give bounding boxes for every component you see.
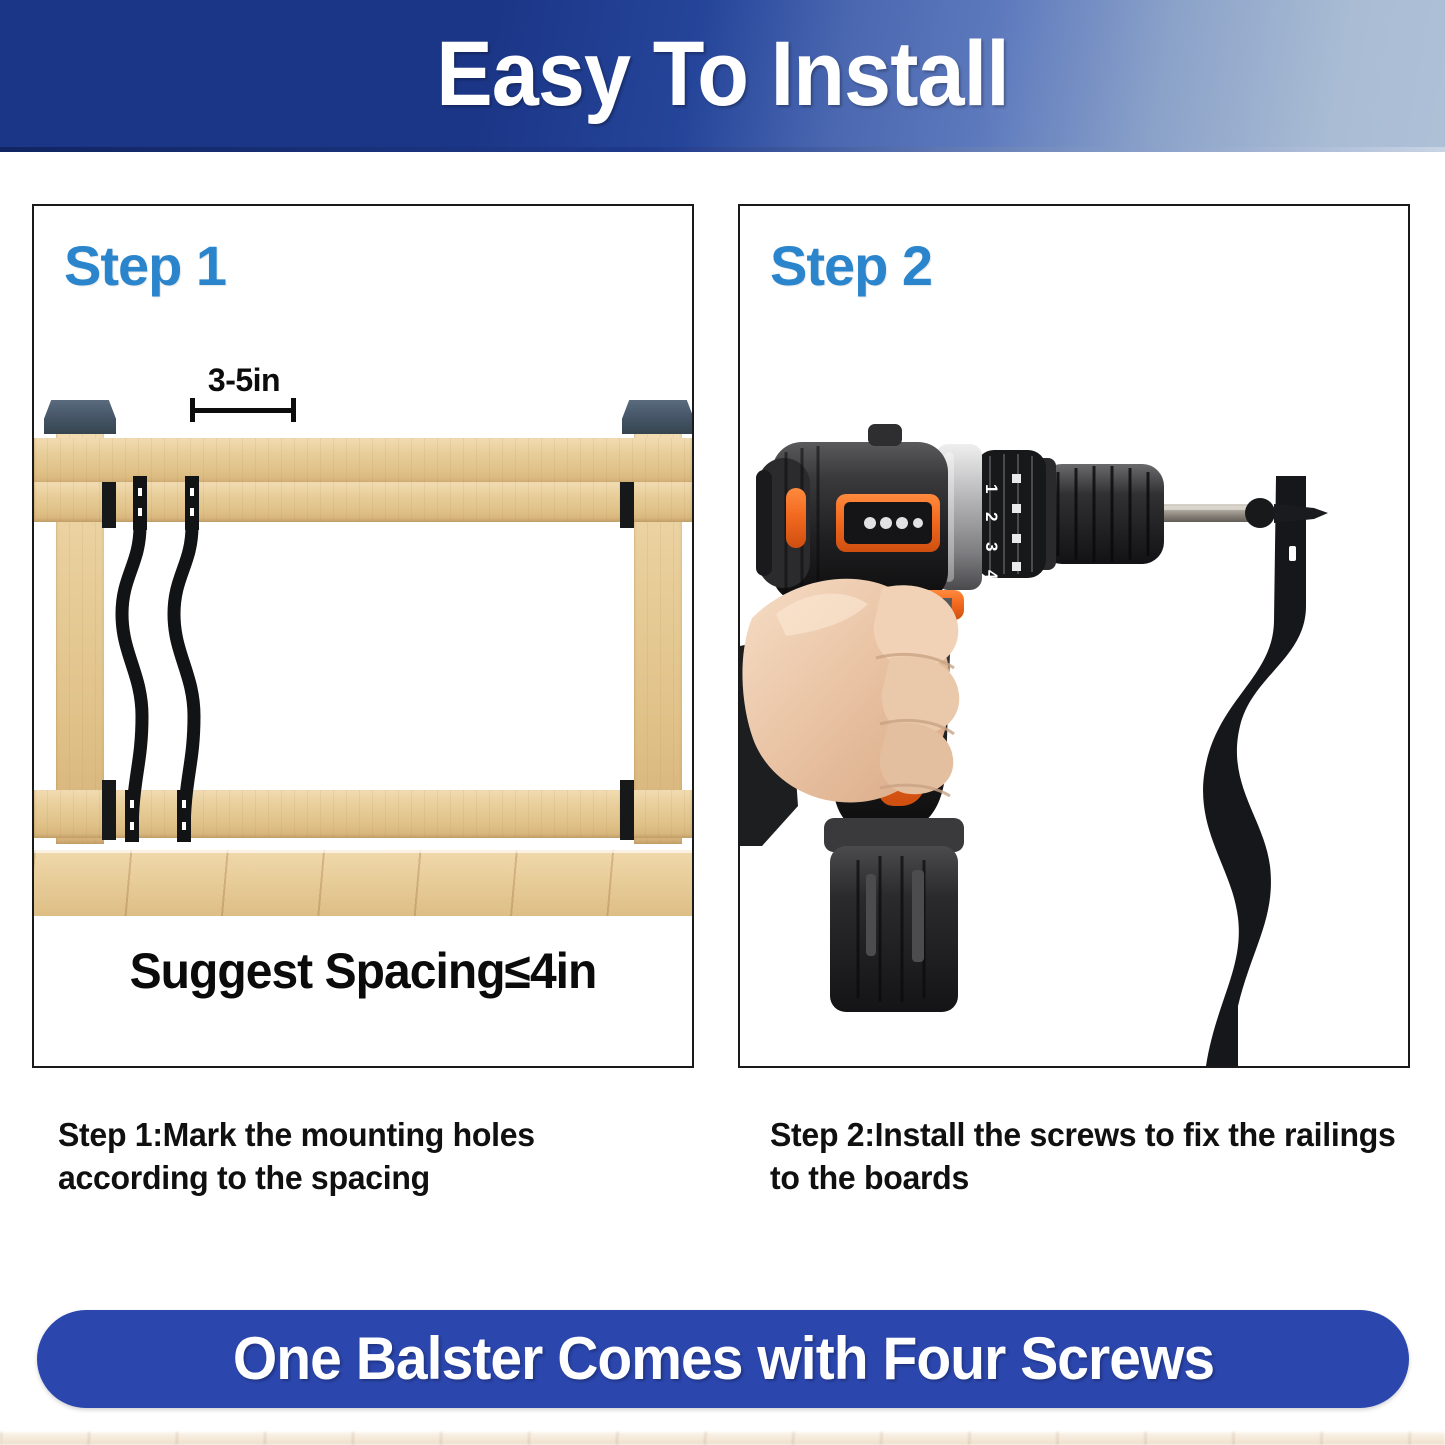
footer-banner: One Balster Comes with Four Screws — [37, 1310, 1409, 1408]
baluster-1-hole-top-2 — [138, 508, 142, 516]
drill-chuck — [1036, 458, 1164, 570]
baluster-workpiece — [1203, 476, 1306, 1066]
dimension-label: 3-5in — [174, 364, 314, 396]
baluster-2-hole-bottom-2 — [182, 822, 186, 830]
svg-text:3: 3 — [982, 542, 1001, 551]
step-1-panel: Step 1 — [32, 204, 694, 1068]
baluster-2-hole-top-2 — [190, 508, 194, 516]
baluster-2-bottom-plate — [177, 790, 191, 842]
baluster-1-top-plate — [133, 476, 147, 530]
step-2-caption: Step 2:Install the screws to fix the rai… — [770, 1114, 1401, 1200]
baluster-group — [34, 386, 692, 916]
page-title: Easy To Install — [58, 28, 1387, 120]
header-banner: Easy To Install — [0, 0, 1445, 152]
drill-illustration: 1 2 3 4 — [740, 206, 1408, 1066]
baluster-1-hole-bottom — [130, 800, 134, 808]
baluster-2 — [174, 482, 194, 838]
baluster-1 — [122, 482, 142, 838]
dimension-tick-left — [190, 398, 195, 422]
header-underline-divider — [0, 147, 1445, 152]
footer-banner-text: One Balster Comes with Four Screws — [232, 1329, 1213, 1389]
baluster-1-bottom-plate — [125, 790, 139, 842]
svg-text:4: 4 — [982, 570, 1001, 580]
drill-battery — [824, 818, 964, 1012]
step-1-label: Step 1 — [64, 238, 226, 294]
railing-illustration: 3-5in — [34, 386, 692, 916]
baluster-2-hole-bottom — [182, 800, 186, 808]
svg-text:1: 1 — [982, 484, 1001, 493]
bottom-wood-strip — [0, 1432, 1445, 1445]
baluster-2-top-plate — [185, 476, 199, 530]
dimension-line — [190, 408, 296, 413]
step-2-panel: Step 2 — [738, 204, 1410, 1068]
step-1-caption: Step 1:Mark the mounting holes according… — [58, 1114, 679, 1200]
svg-text:2: 2 — [982, 512, 1001, 521]
baluster-1-hole-top — [138, 488, 142, 496]
dimension-tick-right — [291, 398, 296, 422]
baluster-2-hole-top — [190, 488, 194, 496]
baluster-1-hole-bottom-2 — [130, 822, 134, 830]
suggest-spacing-note: Suggest Spacing≤4in — [47, 946, 679, 996]
torque-collar: 1 2 3 4 — [976, 450, 1046, 580]
spacing-dimension-marker: 3-5in — [174, 364, 374, 426]
